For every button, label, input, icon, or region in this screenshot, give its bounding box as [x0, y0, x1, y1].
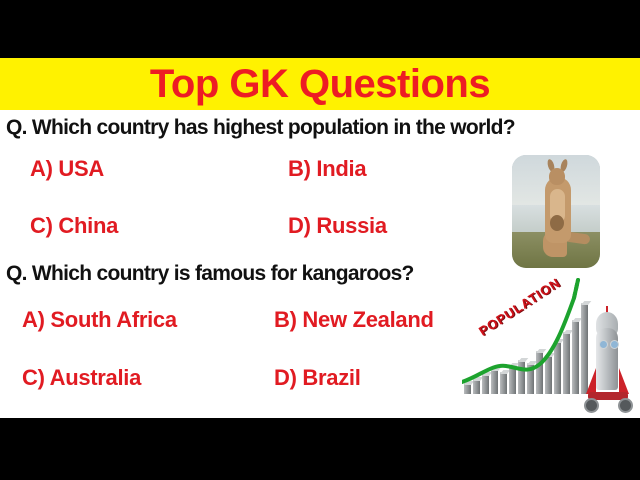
rocket-fin-left	[586, 368, 596, 394]
video-frame: Top GK Questions Q. Which country has hi…	[0, 0, 640, 480]
question-2-option-b[interactable]: B) New Zealand	[274, 307, 434, 333]
page-title: Top GK Questions	[150, 64, 490, 104]
rocket-porthole-left	[599, 340, 608, 349]
question-2-option-c[interactable]: C) Australia	[22, 365, 141, 391]
quiz-content: Q. Which country has highest population …	[0, 110, 640, 418]
question-1-prompt: Q. Which country has highest population …	[6, 116, 515, 140]
population-growth-graphic: POPULATION	[462, 273, 640, 418]
rocket-icon	[582, 306, 634, 414]
rocket-wheel-left	[584, 398, 599, 413]
letterbox-top-bar	[0, 0, 640, 58]
kangaroo-head	[549, 168, 565, 185]
rocket-wheel-right	[618, 398, 633, 413]
rocket-fin-right	[619, 368, 629, 394]
question-1-option-b[interactable]: B) India	[288, 156, 366, 182]
rocket-porthole-right	[610, 340, 619, 349]
question-2-option-d[interactable]: D) Brazil	[274, 365, 361, 391]
kangaroo-joey	[550, 215, 564, 231]
rocket-body	[596, 328, 618, 390]
question-2-option-a[interactable]: A) South Africa	[22, 307, 177, 333]
question-1-option-d[interactable]: D) Russia	[288, 213, 387, 239]
title-banner: Top GK Questions	[0, 58, 640, 110]
question-2-prompt: Q. Which country is famous for kangaroos…	[6, 262, 414, 286]
kangaroo-photo	[512, 155, 600, 268]
letterbox-bottom-bar	[0, 418, 640, 480]
question-1-option-c[interactable]: C) China	[30, 213, 118, 239]
question-1-option-a[interactable]: A) USA	[30, 156, 104, 182]
